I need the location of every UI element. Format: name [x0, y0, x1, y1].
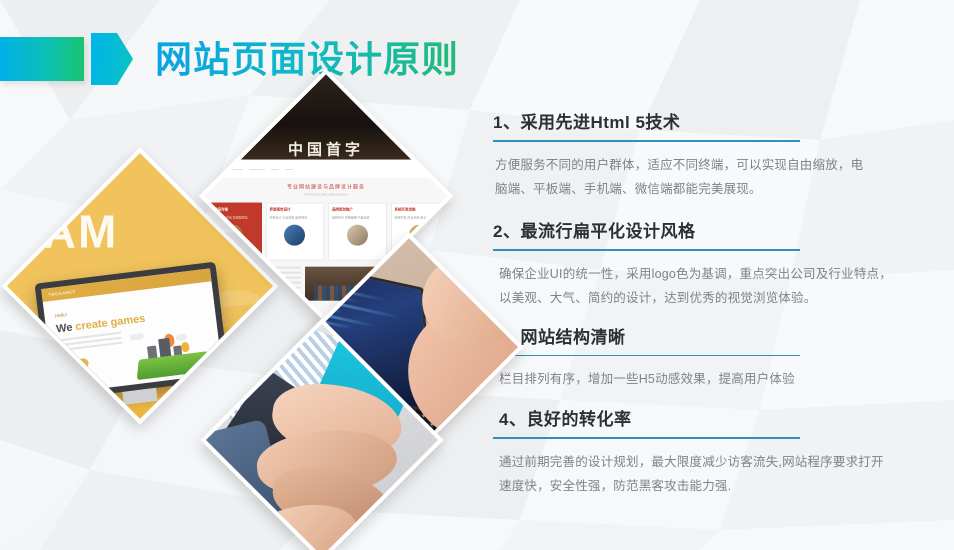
principle-heading: 2、最流行扁平化设计风格: [493, 217, 918, 249]
header-arrow-icon: [91, 33, 133, 85]
slide-header: 网站页面设计原则: [0, 28, 459, 90]
principle-heading: 3、网站结构清晰: [493, 323, 918, 355]
site-nav-brand: 首页网: [203, 166, 215, 172]
page-title: 网站页面设计原则: [155, 41, 459, 78]
principle-item-4: 4、良好的转化率 通过前期完善的设计规划，最大限度减少访客流失,网站程序要求打开…: [493, 405, 918, 498]
principle-heading: 1、采用先进Html 5技术: [493, 108, 918, 140]
principle-heading: 4、良好的转化率: [493, 405, 918, 437]
imac-mockup: TWOGAMES Hello! We create games: [34, 262, 229, 401]
site-section-title: 专业网站建设与品牌设计服务: [199, 178, 454, 191]
imac-kicker: Hello!: [54, 312, 67, 320]
principle-item-1: 1、采用先进Html 5技术 方便服务不同的用户群体，适应不同终端，可以实现自由…: [493, 108, 918, 201]
principle-body: 栏目排列有序，增加一些H5动感效果，提高用户体验: [499, 367, 918, 391]
image-collage: GAM TWOGAMES Hello! We create games: [40, 98, 480, 488]
site-card: 品牌策划推广 品牌定位 传播策略 内容运营: [328, 203, 387, 261]
principle-body: 方便服务不同的用户群体，适应不同终端，可以实现自由缩放，电 脑端、平板端、手机端…: [495, 153, 935, 202]
principle-divider: [493, 437, 800, 439]
slide-canvas: 网站页面设计原则 GAM TWOGAMES Hello! We create g…: [0, 0, 954, 550]
site-card: 界面视觉设计 视觉设计 交互体验 品牌规范: [266, 203, 325, 261]
principle-body: 确保企业UI的统一性，采用logo色为基调，重点突出公司及行业特点， 以美观、大…: [499, 262, 918, 311]
principle-divider: [493, 355, 800, 357]
header-gradient-bar: [0, 37, 84, 81]
principle-body: 通过前期完善的设计规划，最大限度减少访客流失,网站程序要求打开 速度快，安全性强…: [499, 450, 918, 499]
principles-list: 1、采用先进Html 5技术 方便服务不同的用户群体，适应不同终端，可以实现自由…: [493, 108, 918, 505]
principle-item-2: 2、最流行扁平化设计风格 确保企业UI的统一性，采用logo色为基调，重点突出公…: [493, 217, 918, 310]
site-hero-title: 中国首字: [288, 139, 364, 160]
imac-nav-brand: TWOGAMES: [48, 289, 76, 297]
principle-divider: [493, 140, 800, 142]
principle-divider: [493, 249, 800, 251]
principle-item-3: 3、网站结构清晰 栏目排列有序，增加一些H5动感效果，提高用户体验: [493, 323, 918, 392]
